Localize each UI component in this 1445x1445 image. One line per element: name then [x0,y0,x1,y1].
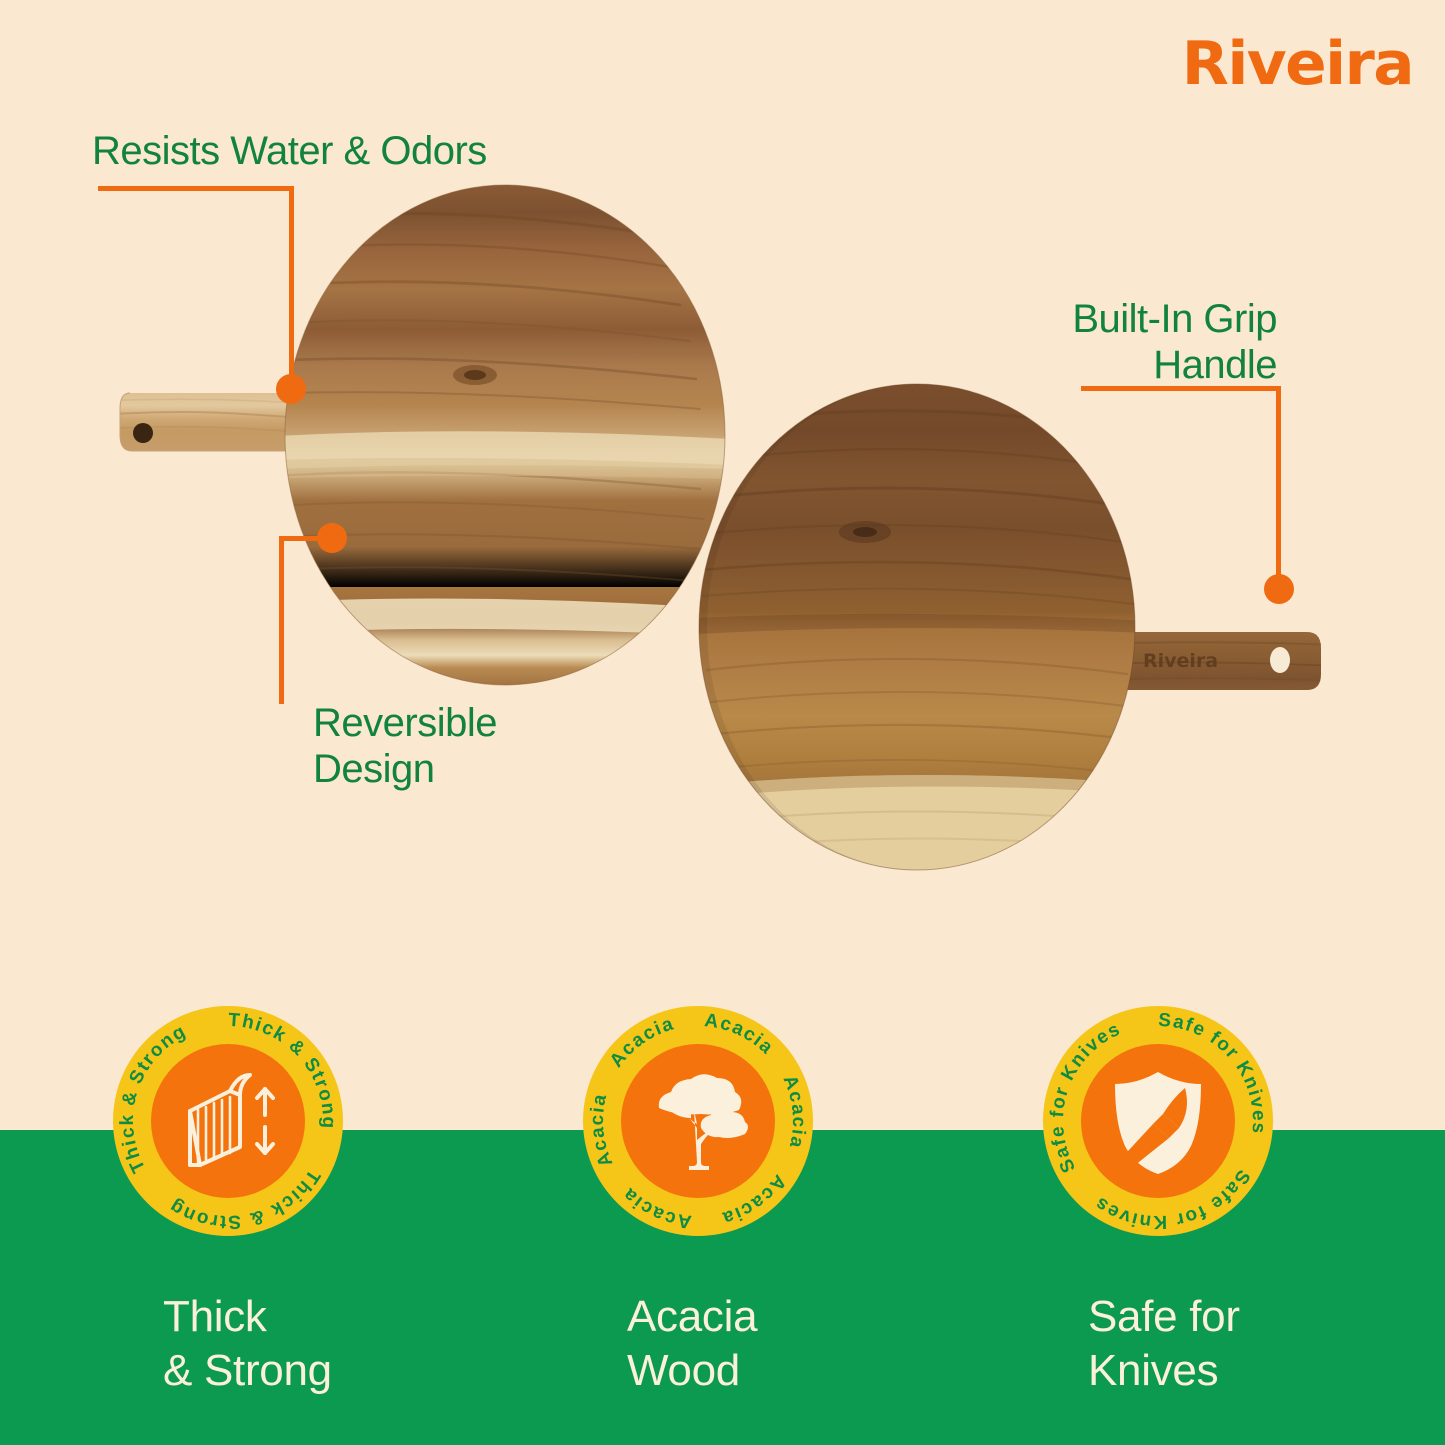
svg-text:Acacia: Acacia [779,1072,810,1151]
badge-caption-safe-for-knives: Safe for Knives [1088,1290,1240,1397]
brand-logo: Riveira [1182,34,1413,94]
hanging-hole [133,423,153,443]
connector-line-resists-water-vertical [289,186,294,386]
badge-acacia: Acacia Acacia Acacia Acacia Acacia Acaci… [583,1006,813,1236]
thick-board-icon [168,1061,288,1181]
badge-safe-for-knives: Safe for Knives Safe for Knives Safe for… [1043,1006,1273,1236]
badge-inner-thick-strong [151,1044,305,1198]
callout-label-reversible-design: Reversible Design [313,700,497,793]
connector-line-reversible-vertical [279,536,284,704]
connector-dot-reversible [317,523,347,553]
wood-knot [453,365,497,385]
connector-dot-resists-water [276,374,306,404]
ring-text-2b: Acacia [779,1072,810,1151]
board-handle-branded [1107,622,1337,702]
badge-caption-acacia-wood: Acacia Wood [627,1290,757,1397]
wood-knot [839,521,891,543]
badge-inner-safe-for-knives [1081,1044,1235,1198]
board-disc [697,382,1347,872]
callout-label-resists-water: Resists Water & Odors [92,128,487,174]
cutting-board-front [100,183,730,688]
handle-engraving-riveira: Riveira [1143,650,1218,672]
cutting-board-back: Riveira [697,382,1347,872]
infographic-canvas: Riveira [0,0,1445,1445]
callout-label-built-in-grip: Built-In Grip Handle [1072,296,1277,389]
connector-line-grip-vertical [1276,386,1281,586]
badge-caption-thick-strong: Thick & Strong [163,1290,332,1397]
svg-text:Acacia: Acacia [587,1091,618,1170]
ring-text-2e: Acacia [587,1091,618,1170]
connector-dot-grip [1264,574,1294,604]
connector-line-resists-water-horizontal [98,186,294,191]
hanging-hole [1270,647,1290,673]
shield-knife-icon [1099,1062,1217,1180]
badge-inner-acacia [621,1044,775,1198]
acacia-tree-icon [639,1062,757,1180]
badge-thick-strong: Thick & Strong Thick & Strong Thick & St… [113,1006,343,1236]
